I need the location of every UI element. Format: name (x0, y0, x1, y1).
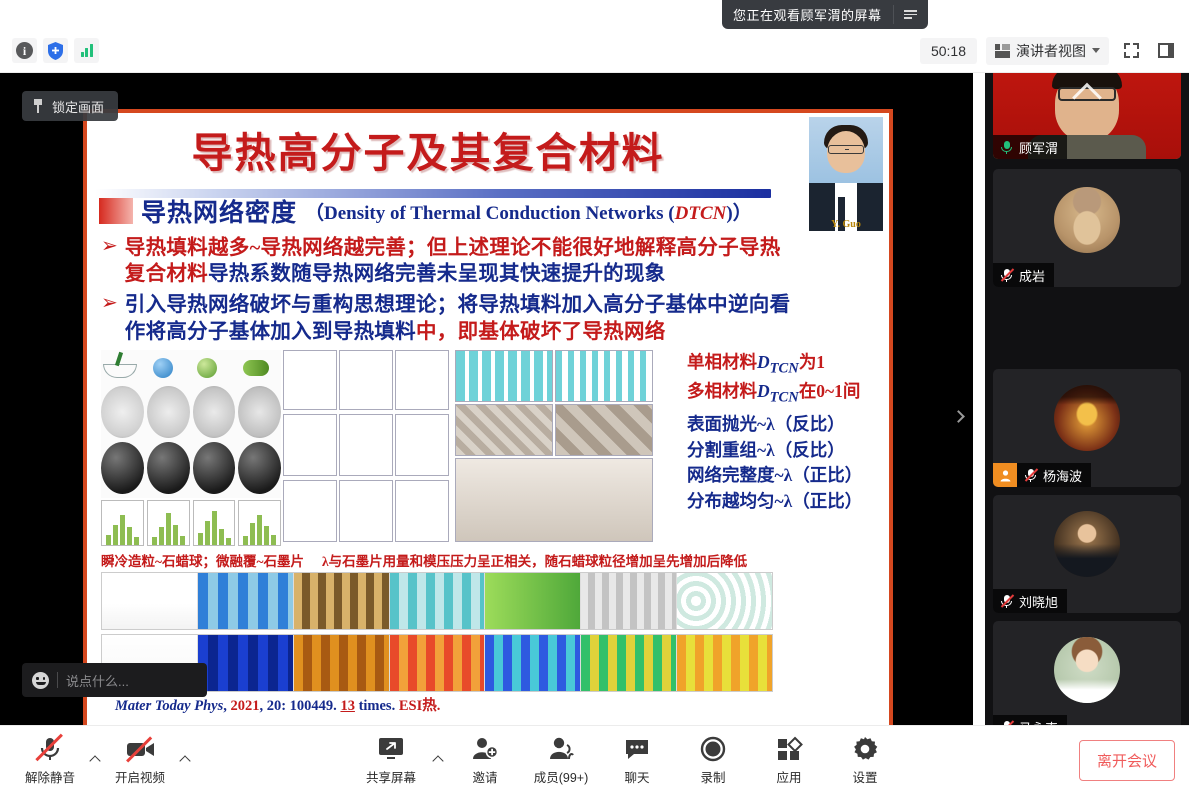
participant-badges: 马永真 (993, 715, 1067, 725)
apps-grid-icon (775, 734, 803, 764)
slide-header: 导热高分子及其复合材料 Y. Guo (87, 113, 889, 191)
top-toolbar-left: i (0, 38, 99, 63)
meeting-info-button[interactable]: i (12, 38, 37, 63)
share-screen-icon (377, 734, 405, 764)
slide-title: 导热高分子及其复合材料 (87, 119, 769, 179)
participant-badges: 成岩 (993, 263, 1054, 287)
participant-name-chip: 杨海波 (1017, 463, 1091, 487)
participants-rail[interactable]: 2022 顾军渭 成岩 (985, 73, 1189, 725)
side-note-line: 表面抛光~λ（反比） (687, 412, 883, 438)
collapse-panel-button[interactable] (951, 405, 965, 427)
view-mode-dropdown[interactable]: 演讲者视图 (986, 37, 1109, 65)
subtitle-en: （Density of Thermal Conduction Networks … (305, 198, 752, 225)
figure-schematics (455, 350, 655, 546)
apps-button[interactable]: 应用 (753, 730, 825, 786)
participant-tile[interactable]: 刘晓旭 (993, 495, 1181, 613)
figure-line-charts (283, 350, 451, 546)
bottom-toolbar-center: 共享屏幕 邀请 成员(99+) 聊天 (355, 730, 901, 786)
smiley-icon[interactable] (32, 672, 49, 689)
side-panel-icon (1158, 43, 1174, 58)
side-note-line: 网络完整度~λ（正比） (687, 463, 883, 489)
chat-button[interactable]: 聊天 (601, 730, 673, 786)
side-note-blue: 表面抛光~λ（反比） 分割重组~λ（反比） 网络完整度~λ（正比） 分布越均匀~… (687, 412, 883, 514)
participant-name-chip: 成岩 (993, 263, 1054, 287)
participant-tile[interactable]: 成岩 (993, 169, 1181, 287)
security-button[interactable] (43, 38, 68, 63)
watching-screen-text: 您正在观看顾军渭的屏幕 (722, 0, 893, 29)
video-options-caret[interactable] (178, 730, 192, 776)
bullet-text: 引入导热网络破坏与重构思想理论；将导热填料加入高分子基体中逆向看作将高分子基体加… (125, 292, 791, 344)
meeting-timer: 50:18 (920, 38, 977, 64)
figure-row-1 (101, 386, 281, 442)
mic-muted-icon (1000, 594, 1013, 609)
view-mode-label: 演讲者视图 (1016, 41, 1086, 61)
share-screen-label: 共享屏幕 (366, 767, 416, 786)
start-video-label: 开启视频 (115, 767, 165, 786)
pin-icon (32, 99, 44, 113)
chat-bubble-icon (623, 734, 651, 764)
subtitle-cn: 导热网络密度 (141, 193, 297, 229)
network-status-button[interactable] (74, 38, 99, 63)
start-video-button[interactable]: 开启视频 (104, 730, 176, 786)
participant-name-chip: 顾军渭 (993, 135, 1067, 159)
chevron-down-icon (1092, 48, 1100, 53)
lock-screen-button[interactable]: 锁定画面 (22, 91, 118, 121)
participant-name: 顾军渭 (1019, 138, 1058, 157)
shield-plus-icon (47, 42, 64, 60)
participant-tile[interactable]: 马永真 (993, 621, 1181, 725)
side-note-line: 分割重组~λ（反比） (687, 438, 883, 464)
hamburger-menu-icon (904, 10, 917, 19)
figure-row-2 (101, 442, 281, 498)
record-button[interactable]: 录制 (677, 730, 749, 786)
layout-icon (995, 44, 1010, 58)
slide-subtitle: 导热网络密度 （Density of Thermal Conduction Ne… (87, 191, 889, 231)
chat-divider (57, 672, 58, 688)
banner-menu-button[interactable] (894, 0, 928, 29)
mic-muted-icon (1024, 468, 1037, 483)
share-screen-button[interactable]: 共享屏幕 (355, 730, 427, 786)
avatar (1054, 637, 1120, 703)
unmute-label: 解除静音 (25, 767, 75, 786)
lock-screen-label: 锁定画面 (52, 97, 104, 116)
figure-caption: λ与石墨片用量和模压压力呈正相关，随石蜡球粒径增加呈先增加后降低 (322, 550, 747, 570)
shared-screen-stage[interactable]: 锁定画面 导热高分子及其复合材料 Y. Guo 导热网络密度 (0, 73, 973, 725)
mic-muted-icon (1000, 268, 1013, 283)
info-icon: i (16, 42, 33, 59)
leave-meeting-button[interactable]: 离开会议 (1079, 740, 1175, 781)
participant-name: 成岩 (1019, 266, 1045, 285)
participants-label: 成员(99+) (534, 767, 589, 786)
bullet-arrow-icon: ➢ (101, 292, 118, 344)
slide-citation: Mater Today Phys, 2021, 20: 100449. 13 t… (115, 694, 440, 715)
fullscreen-icon (1124, 43, 1139, 58)
figure-micrographs (101, 350, 281, 498)
participants-button[interactable]: 成员(99+) (525, 730, 597, 786)
bottom-toolbar: 解除静音 开启视频 共享屏幕 (0, 725, 1189, 796)
invite-person-icon (471, 734, 499, 764)
participant-badges: 杨海波 (993, 463, 1091, 487)
figure-captions: 瞬冷造粒~石蜡球；微融覆~石墨片 λ与石墨片用量和模压压力呈正相关，随石蜡球粒径… (101, 550, 661, 570)
bullet-text: 导热填料越多~导热网络越完善；但上述理论不能很好地解释高分子导热复合材料导热系数… (125, 235, 781, 287)
slide-footer: Mater Today Phys, 2021, 20: 100449. 13 t… (87, 692, 889, 725)
chat-placeholder: 说点什么... (66, 671, 129, 690)
chevron-up-icon[interactable] (1077, 87, 1098, 108)
share-options-caret[interactable] (431, 730, 445, 776)
participant-name-chip: 马永真 (993, 715, 1067, 725)
record-icon (699, 734, 727, 764)
participant-name: 杨海波 (1043, 466, 1082, 485)
side-note-line: 分布越均匀~λ（正比） (687, 489, 883, 515)
gear-icon (851, 734, 879, 764)
settings-button[interactable]: 设置 (829, 730, 901, 786)
figure-caption: 瞬冷造粒~石蜡球；微融覆~石墨片 (101, 550, 304, 570)
bottom-toolbar-left: 解除静音 开启视频 (14, 730, 192, 786)
participants-icon (547, 734, 575, 764)
subtitle-bar-decor (99, 198, 133, 224)
bullet-item: ➢ 导热填料越多~导热网络越完善；但上述理论不能很好地解释高分子导热复合材料导热… (101, 235, 879, 287)
mic-muted-icon (35, 734, 65, 764)
mic-on-icon (1000, 140, 1013, 155)
bullet-item: ➢ 引入导热网络破坏与重构思想理论；将导热填料加入高分子基体中逆向看作将高分子基… (101, 292, 879, 344)
camera-off-icon (123, 734, 157, 764)
slide-side-notes: 单相材料DTCN为1 多相材料DTCN在0~1间 表面抛光~λ（反比） 分割重组… (687, 350, 883, 515)
participant-badges: 刘晓旭 (993, 589, 1067, 613)
figure-histograms (101, 500, 281, 546)
fullscreen-button[interactable] (1118, 38, 1144, 64)
video-year-text: 2022 (1156, 73, 1174, 75)
participant-name-chip: 刘晓旭 (993, 589, 1067, 613)
bullet-arrow-icon: ➢ (101, 235, 118, 287)
top-toolbar-right: 50:18 演讲者视图 (920, 37, 1189, 65)
watching-screen-banner: 您正在观看顾军渭的屏幕 (722, 0, 928, 29)
record-label: 录制 (700, 767, 725, 786)
participant-name: 马永真 (1019, 718, 1058, 726)
presentation-slide: 导热高分子及其复合材料 Y. Guo 导热网络密度 （Density of Th… (83, 109, 893, 725)
meeting-window: 您正在观看顾军渭的屏幕 i 50:18 演讲者视图 (0, 0, 1189, 796)
slide-bullets: ➢ 导热填料越多~导热网络越完善；但上述理论不能很好地解释高分子导热复合材料导热… (87, 231, 889, 345)
invite-button[interactable]: 邀请 (449, 730, 521, 786)
side-panel-button[interactable] (1153, 38, 1179, 64)
apps-label: 应用 (776, 767, 801, 786)
settings-label: 设置 (852, 767, 877, 786)
participant-tile[interactable]: 2022 顾军渭 (993, 73, 1181, 159)
avatar (1054, 511, 1120, 577)
chat-label: 聊天 (624, 767, 649, 786)
invite-label: 邀请 (472, 767, 497, 786)
top-toolbar: i 50:18 演讲者视图 (0, 29, 1189, 73)
figure-process-diagram (101, 352, 281, 386)
slide-figures: 单相材料DTCN为1 多相材料DTCN在0~1间 表面抛光~λ（反比） 分割重组… (87, 350, 889, 612)
figure-band-top (101, 572, 773, 630)
avatar (1054, 385, 1120, 451)
audio-options-caret[interactable] (88, 730, 102, 776)
host-badge-icon (993, 463, 1017, 487)
unmute-button[interactable]: 解除静音 (14, 730, 86, 786)
participant-name: 刘晓旭 (1019, 592, 1058, 611)
participant-tile[interactable]: 杨海波 (993, 369, 1181, 487)
stage-chat-input[interactable]: 说点什么... (22, 663, 207, 697)
side-note-red: 单相材料DTCN为1 多相材料DTCN在0~1间 (687, 350, 883, 408)
avatar (1054, 187, 1120, 253)
signal-bars-icon (81, 44, 93, 57)
participant-badges: 顾军渭 (993, 135, 1067, 159)
